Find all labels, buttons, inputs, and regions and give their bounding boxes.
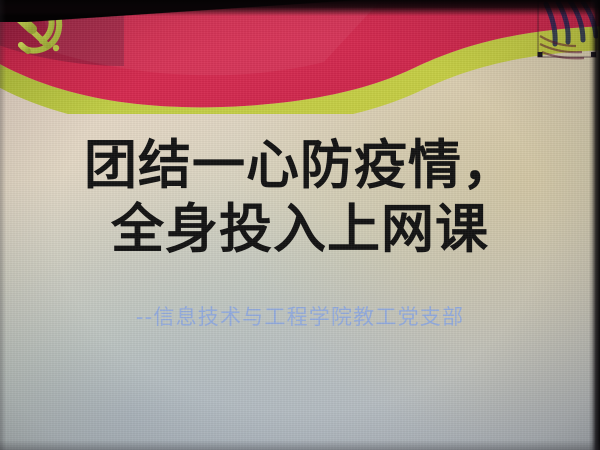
slide-title-line-1: 团结一心防疫情，: [0, 139, 600, 192]
slide-subtitle: --信息技术与工程学院教工党支部: [0, 307, 600, 328]
slide-text-block: 团结一心防疫情， 全身投入上网课 --信息技术与工程学院教工党支部: [0, 0, 600, 450]
slide-photo: 团结一心防疫情， 全身投入上网课 --信息技术与工程学院教工党支部: [0, 0, 600, 450]
slide-title-line-2: 全身投入上网课: [0, 203, 600, 256]
